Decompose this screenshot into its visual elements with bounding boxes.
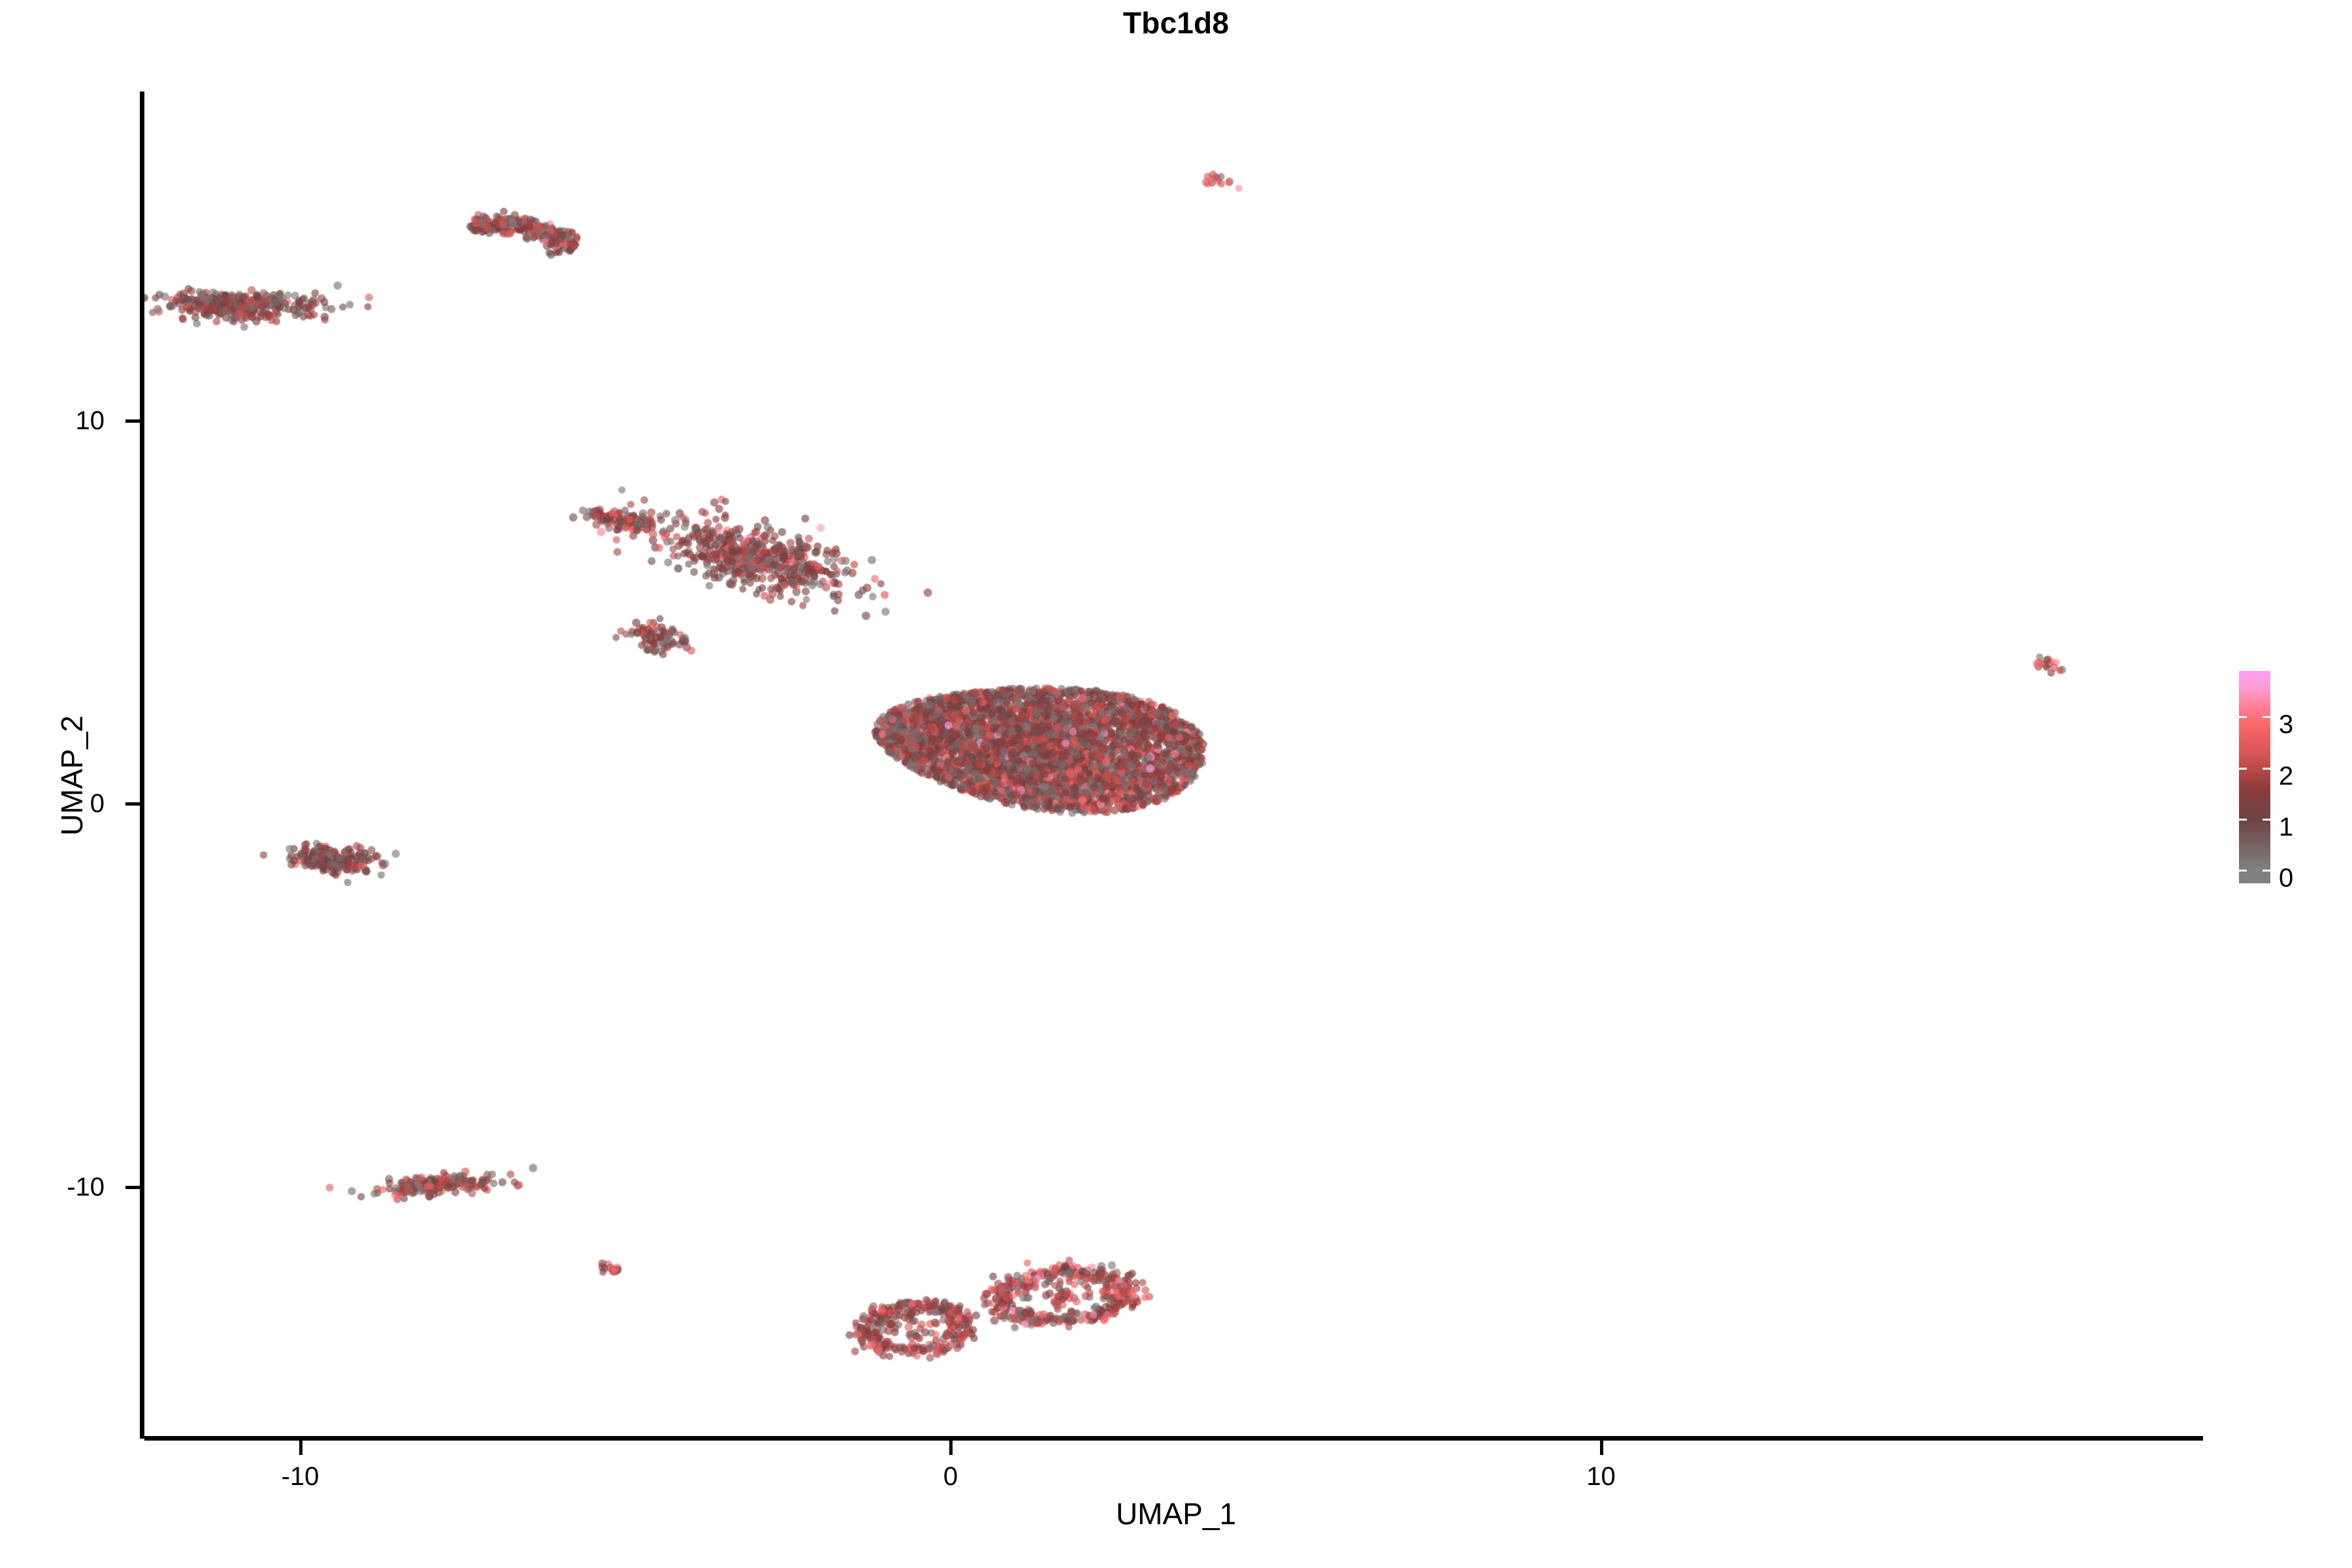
colorbar-tick-mark xyxy=(2239,870,2247,872)
colorbar-tick-mark xyxy=(2239,819,2247,821)
x-tick-label: 10 xyxy=(1586,1463,1616,1490)
colorbar-tick-mark xyxy=(2262,716,2270,718)
colorbar-tick-mark xyxy=(2262,819,2270,821)
scatter-plot-panel xyxy=(144,91,2203,1439)
colorbar-legend: 3210 xyxy=(2234,666,2339,892)
chart-root: Tbc1d8 -10010100-10 UMAP_2 UMAP_1 3210 xyxy=(0,0,2352,1568)
colorbar-tick-mark xyxy=(2262,768,2270,770)
x-axis-line xyxy=(144,1436,2203,1441)
x-tick-label: -10 xyxy=(282,1463,319,1490)
x-tick-mark xyxy=(1600,1441,1603,1455)
x-tick-mark xyxy=(949,1441,953,1455)
y-axis-title: UMAP_2 xyxy=(54,678,90,874)
x-tick-label: 0 xyxy=(943,1463,958,1490)
y-tick-mark xyxy=(125,419,140,423)
x-tick-mark xyxy=(299,1441,302,1455)
y-axis-line xyxy=(140,91,144,1439)
scatter-points-layer xyxy=(144,91,2203,1439)
y-tick-mark xyxy=(125,802,140,806)
colorbar-tick-mark xyxy=(2239,768,2247,770)
y-tick-label: 10 xyxy=(0,408,105,434)
colorbar-tick-label: 1 xyxy=(2279,814,2293,840)
colorbar-tick-label: 3 xyxy=(2279,711,2293,738)
colorbar-tick-label: 2 xyxy=(2279,763,2293,789)
colorbar-tick-label: 0 xyxy=(2279,865,2293,891)
colorbar-tick-mark xyxy=(2239,716,2247,718)
y-tick-mark xyxy=(125,1186,140,1189)
colorbar-tick-mark xyxy=(2262,870,2270,872)
y-tick-label: -10 xyxy=(0,1174,105,1200)
page-title: Tbc1d8 xyxy=(0,5,2352,41)
x-axis-title: UMAP_1 xyxy=(0,1496,2352,1531)
colorbar-gradient xyxy=(2239,671,2270,883)
